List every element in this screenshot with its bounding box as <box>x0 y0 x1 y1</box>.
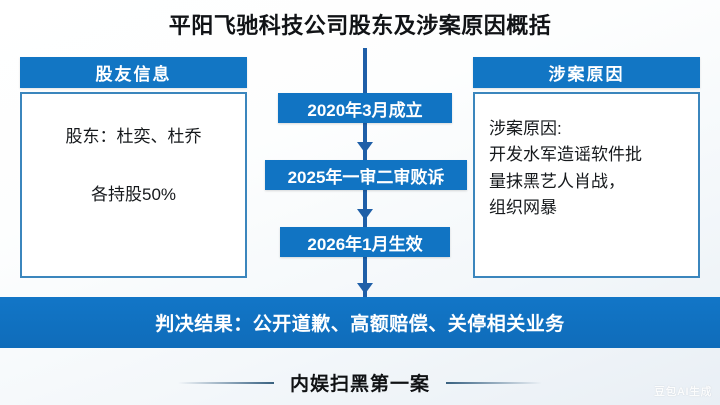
case-reason-line-2: 量抹黑艺人肖战， <box>489 169 688 195</box>
timeline-arrow-icon <box>357 142 373 153</box>
timeline-step-founding[interactable]: 2020年3月成立 <box>278 93 452 123</box>
case-reason-label: 涉案原因: <box>489 116 688 142</box>
timeline-step-effective[interactable]: 2026年1月生效 <box>280 227 450 257</box>
footer-caption: 内娱扫黑第一案 <box>290 369 430 396</box>
page-title: 平阳飞驰科技公司股东及涉案原因概括 <box>0 8 720 40</box>
footer-rule-right-icon <box>446 382 542 384</box>
case-reason-line-1: 开发水军造谣软件批 <box>489 142 688 168</box>
ai-watermark: 豆包AI生成 <box>654 383 712 399</box>
shareholding-ratio: 各持股50% <box>36 180 231 210</box>
shareholder-names: 股东：杜奕、杜乔 <box>36 122 231 152</box>
footer-rule-left-icon <box>178 382 274 384</box>
timeline-arrow-icon <box>357 209 373 220</box>
left-panel-header: 股友信息 <box>20 57 247 88</box>
right-panel-body: 涉案原因: 开发水军造谣软件批 量抹黑艺人肖战， 组织网暴 <box>473 92 700 278</box>
right-panel-header: 涉案原因 <box>473 57 700 88</box>
footer: 内娱扫黑第一案 <box>0 360 720 405</box>
slide-canvas: 平阳飞驰科技公司股东及涉案原因概括 2020年3月成立 2025年一审二审败诉 … <box>0 0 720 405</box>
verdict-banner: 判决结果：公开道歉、高额赔偿、关停相关业务 <box>0 297 720 348</box>
left-panel-content: 股东：杜奕、杜乔 各持股50% <box>22 94 245 220</box>
left-panel-body: 股东：杜奕、杜乔 各持股50% <box>20 92 247 278</box>
case-reason-line-3: 组织网暴 <box>489 195 688 221</box>
timeline-arrow-icon <box>357 283 373 294</box>
timeline-step-trial-loss[interactable]: 2025年一审二审败诉 <box>265 160 467 190</box>
right-panel-content: 涉案原因: 开发水军造谣软件批 量抹黑艺人肖战， 组织网暴 <box>475 94 698 231</box>
